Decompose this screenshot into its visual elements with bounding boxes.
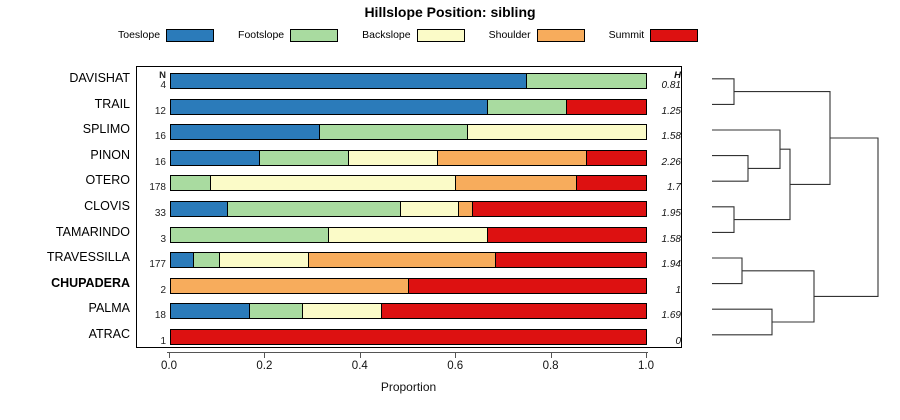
row-h-value: 1.7 [649, 182, 681, 193]
category-label: CHUPADERA [0, 276, 130, 290]
row-h-value: 0.81 [649, 80, 681, 91]
x-axis-tick [646, 352, 647, 358]
x-axis-tick-label: 0.0 [149, 360, 189, 372]
category-label: CLOVIS [0, 199, 130, 213]
bar-segment[interactable] [194, 253, 221, 267]
row-n-value: 3 [137, 234, 166, 245]
bar-segment[interactable] [468, 125, 646, 139]
bar-segment[interactable] [488, 228, 646, 242]
bar-segment[interactable] [171, 228, 329, 242]
bar-segment[interactable] [171, 176, 211, 190]
row-h-value: 1.95 [649, 208, 681, 219]
row-n-value: 1 [137, 336, 166, 347]
bar-row: 21 [137, 273, 683, 299]
bar-segment[interactable] [382, 304, 646, 318]
stacked-bar[interactable] [170, 303, 647, 319]
bar-row: 1781.7 [137, 170, 683, 196]
bar-segment[interactable] [211, 176, 456, 190]
bar-segment[interactable] [320, 125, 468, 139]
stacked-bar[interactable] [170, 201, 647, 217]
stacked-bar[interactable] [170, 175, 647, 191]
row-h-value: 1.58 [649, 234, 681, 245]
dendro-link-pinon-otero [712, 156, 748, 182]
bar-segment[interactable] [587, 151, 646, 165]
category-label: PINON [0, 148, 130, 162]
row-n-value: 16 [137, 131, 166, 142]
bar-segment[interactable] [171, 202, 228, 216]
legend-item[interactable]: Summit [609, 29, 699, 42]
row-n-value: 2 [137, 285, 166, 296]
bar-row: 181.69 [137, 298, 683, 324]
bar-segment[interactable] [456, 176, 577, 190]
dendro-link-travessilla-chupadera [712, 258, 742, 284]
category-label: TAMARINDO [0, 225, 130, 239]
figure-root: Hillslope Position: sibling ToeslopeFoot… [0, 0, 900, 420]
dendro-link-root [814, 138, 878, 296]
x-axis-tick-label: 0.2 [244, 360, 284, 372]
legend-swatch [290, 29, 338, 42]
legend-item-label: Toeslope [118, 29, 160, 41]
bar-segment[interactable] [303, 304, 382, 318]
legend-item[interactable]: Toeslope [118, 29, 214, 42]
bar-segment[interactable] [171, 125, 320, 139]
legend-item-label: Summit [609, 29, 645, 41]
dendro-link-clovis-tamarindo [712, 207, 734, 233]
bar-segment[interactable] [171, 253, 194, 267]
category-label: OTERO [0, 173, 130, 187]
dendrogram [682, 66, 900, 348]
row-n-value: 177 [137, 259, 166, 270]
row-h-value: 1.25 [649, 106, 681, 117]
bar-segment[interactable] [577, 176, 646, 190]
legend-item[interactable]: Footslope [238, 29, 338, 42]
bar-row: 162.26 [137, 145, 683, 171]
bar-segment[interactable] [349, 151, 438, 165]
x-axis-tick [360, 352, 361, 358]
bar-row: 10 [137, 324, 683, 350]
bar-segment[interactable] [250, 304, 303, 318]
x-axis-tick [169, 352, 170, 358]
dendro-link-splimo-pinonotero [712, 130, 780, 168]
category-label: PALMA [0, 301, 130, 315]
bar-segment[interactable] [171, 74, 527, 88]
row-h-value: 1.58 [649, 131, 681, 142]
bar-row: 331.95 [137, 196, 683, 222]
legend-item-label: Footslope [238, 29, 284, 41]
row-h-value: 1.69 [649, 310, 681, 321]
stacked-bar-panel: 40.81NH121.25161.58162.261781.7331.9531.… [136, 66, 682, 348]
dendro-link-davishat-trail [712, 79, 734, 105]
stacked-bar[interactable] [170, 150, 647, 166]
legend-item[interactable]: Shoulder [489, 29, 585, 42]
bar-segment[interactable] [527, 74, 646, 88]
x-axis-title: Proportion [0, 380, 817, 394]
bar-segment[interactable] [171, 100, 488, 114]
category-label: SPLIMO [0, 122, 130, 136]
x-axis-tick-label: 1.0 [626, 360, 666, 372]
legend: ToeslopeFootslopeBackslopeShoulderSummit [118, 27, 718, 43]
x-axis-line [167, 352, 648, 353]
bar-segment[interactable] [260, 151, 349, 165]
row-n-value: 33 [137, 208, 166, 219]
x-axis-tick-label: 0.6 [435, 360, 475, 372]
dendro-link-b-c [734, 149, 790, 219]
bar-row: 1771.94 [137, 247, 683, 273]
row-n-value: 4 [137, 80, 166, 91]
bar-segment[interactable] [459, 202, 473, 216]
bar-segment[interactable] [488, 100, 567, 114]
bar-segment[interactable] [401, 202, 458, 216]
stacked-bar[interactable] [170, 252, 647, 268]
row-n-value: 18 [137, 310, 166, 321]
stacked-bar[interactable] [170, 124, 647, 140]
row-n-value: 178 [137, 182, 166, 193]
x-axis-tick [455, 352, 456, 358]
legend-swatch [166, 29, 214, 42]
legend-swatch [650, 29, 698, 42]
bar-segment[interactable] [171, 279, 409, 293]
bar-segment[interactable] [473, 202, 646, 216]
bar-rows-layer: 40.81NH121.25161.58162.261781.7331.9531.… [137, 67, 681, 347]
row-h-value: 0 [649, 336, 681, 347]
dendro-link-palma-atrac [712, 309, 772, 335]
category-label: DAVISHAT [0, 71, 130, 85]
stacked-bar[interactable] [170, 227, 647, 243]
bar-segment[interactable] [567, 100, 646, 114]
bar-segment[interactable] [309, 253, 497, 267]
legend-swatch [417, 29, 465, 42]
stacked-bar[interactable] [170, 278, 647, 294]
bar-segment[interactable] [171, 330, 646, 344]
x-axis-tick [551, 352, 552, 358]
dendrogram-svg [682, 66, 900, 348]
bar-segment[interactable] [438, 151, 587, 165]
stacked-bar[interactable] [170, 73, 647, 89]
bar-row: 161.58 [137, 119, 683, 145]
bar-segment[interactable] [171, 151, 260, 165]
stacked-bar[interactable] [170, 99, 647, 115]
page-title: Hillslope Position: sibling [0, 4, 900, 20]
x-axis-tick-label: 0.4 [340, 360, 380, 372]
row-n-value: 12 [137, 106, 166, 117]
bar-row: 40.81NH [137, 68, 683, 94]
bar-row: 121.25 [137, 94, 683, 120]
legend-swatch [537, 29, 585, 42]
h-column-header: H [649, 70, 681, 81]
bar-segment[interactable] [496, 253, 646, 267]
category-label: TRAIL [0, 97, 130, 111]
n-column-header: N [137, 70, 166, 81]
x-axis-tick [264, 352, 265, 358]
row-n-value: 16 [137, 157, 166, 168]
bar-segment[interactable] [228, 202, 401, 216]
dendro-link-d-e [742, 271, 814, 322]
category-label: TRAVESSILLA [0, 250, 130, 264]
legend-item[interactable]: Backslope [362, 29, 464, 42]
legend-item-label: Backslope [362, 29, 410, 41]
category-label: ATRAC [0, 327, 130, 341]
bar-segment[interactable] [220, 253, 308, 267]
bar-row: 31.58 [137, 222, 683, 248]
stacked-bar[interactable] [170, 329, 647, 345]
row-h-value: 1.94 [649, 259, 681, 270]
row-h-value: 1 [649, 285, 681, 296]
legend-item-label: Shoulder [489, 29, 531, 41]
bar-segment[interactable] [171, 304, 250, 318]
x-axis-tick-label: 0.8 [531, 360, 571, 372]
bar-segment[interactable] [409, 279, 647, 293]
row-h-value: 2.26 [649, 157, 681, 168]
bar-segment[interactable] [329, 228, 488, 242]
